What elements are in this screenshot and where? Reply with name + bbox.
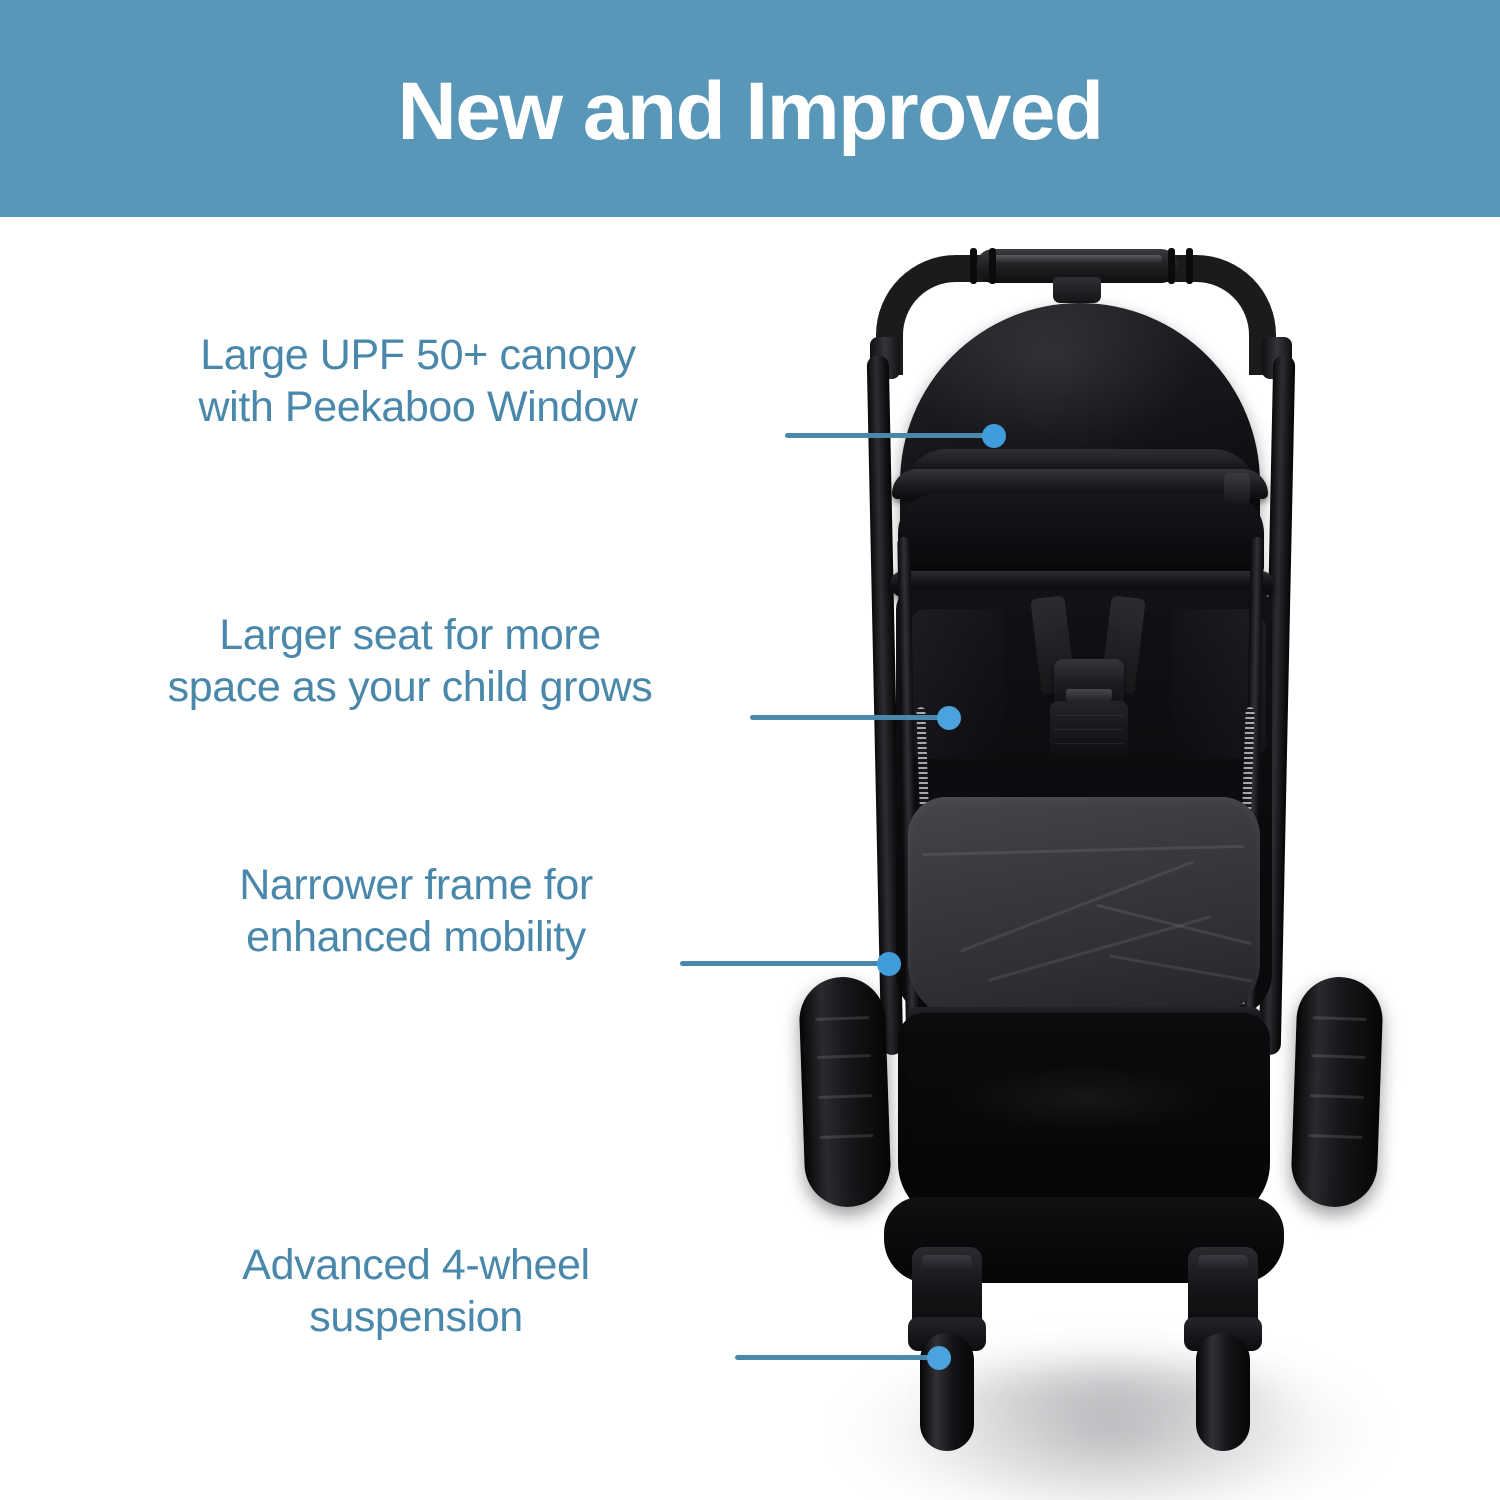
callout-label-seat: Larger seat for more space as your child…	[100, 609, 720, 714]
product-stage: Large UPF 50+ canopy with Peekaboo Windo…	[0, 217, 1500, 1500]
callout-seat-line1: Larger seat for more	[100, 609, 720, 661]
callout-canopy-line1: Large UPF 50+ canopy	[118, 329, 718, 381]
callout-label-suspension: Advanced 4-wheel suspension	[166, 1239, 666, 1344]
safety-harness	[1030, 597, 1146, 767]
grip-ring	[1168, 248, 1175, 284]
leader-line-seat	[750, 715, 950, 720]
callout-label-frame: Narrower frame for enhanced mobility	[166, 859, 666, 964]
callout-canopy-line2: with Peekaboo Window	[118, 381, 718, 433]
leader-line-canopy	[785, 433, 995, 438]
leader-line-suspension	[735, 1355, 940, 1360]
callout-dot-seat	[937, 706, 961, 730]
front-caster-left	[908, 1247, 986, 1447]
harness-crotch-pad	[1050, 701, 1128, 767]
rear-wheel-left	[798, 976, 892, 1209]
grip-ring	[970, 248, 977, 284]
canopy-lower-panel	[898, 493, 1264, 579]
callout-label-canopy: Large UPF 50+ canopy with Peekaboo Windo…	[118, 329, 718, 434]
caster-tire	[1196, 1333, 1250, 1451]
callout-dot-suspension	[927, 1346, 951, 1370]
leader-line-frame	[680, 961, 890, 966]
header-banner: New and Improved	[0, 0, 1500, 217]
seat-pad	[908, 797, 1260, 1019]
front-caster-right	[1184, 1247, 1262, 1447]
grip-ring	[1186, 248, 1193, 284]
callout-dot-frame	[877, 952, 901, 976]
canopy-side-tab	[1224, 473, 1250, 503]
page-title: New and Improved	[397, 71, 1102, 153]
rear-wheel-right	[1290, 976, 1384, 1209]
grip-ring	[989, 248, 996, 284]
callout-frame-line1: Narrower frame for	[166, 859, 666, 911]
callout-suspension-line1: Advanced 4-wheel	[166, 1239, 666, 1291]
callout-dot-canopy	[982, 424, 1006, 448]
callout-seat-line2: space as your child grows	[100, 661, 720, 713]
basket-highlight	[930, 1067, 1240, 1147]
callout-frame-line2: enhanced mobility	[166, 911, 666, 963]
callout-suspension-line2: suspension	[166, 1291, 666, 1343]
stroller-illustration	[780, 237, 1400, 1457]
handlebar-center-clip	[1053, 277, 1101, 303]
